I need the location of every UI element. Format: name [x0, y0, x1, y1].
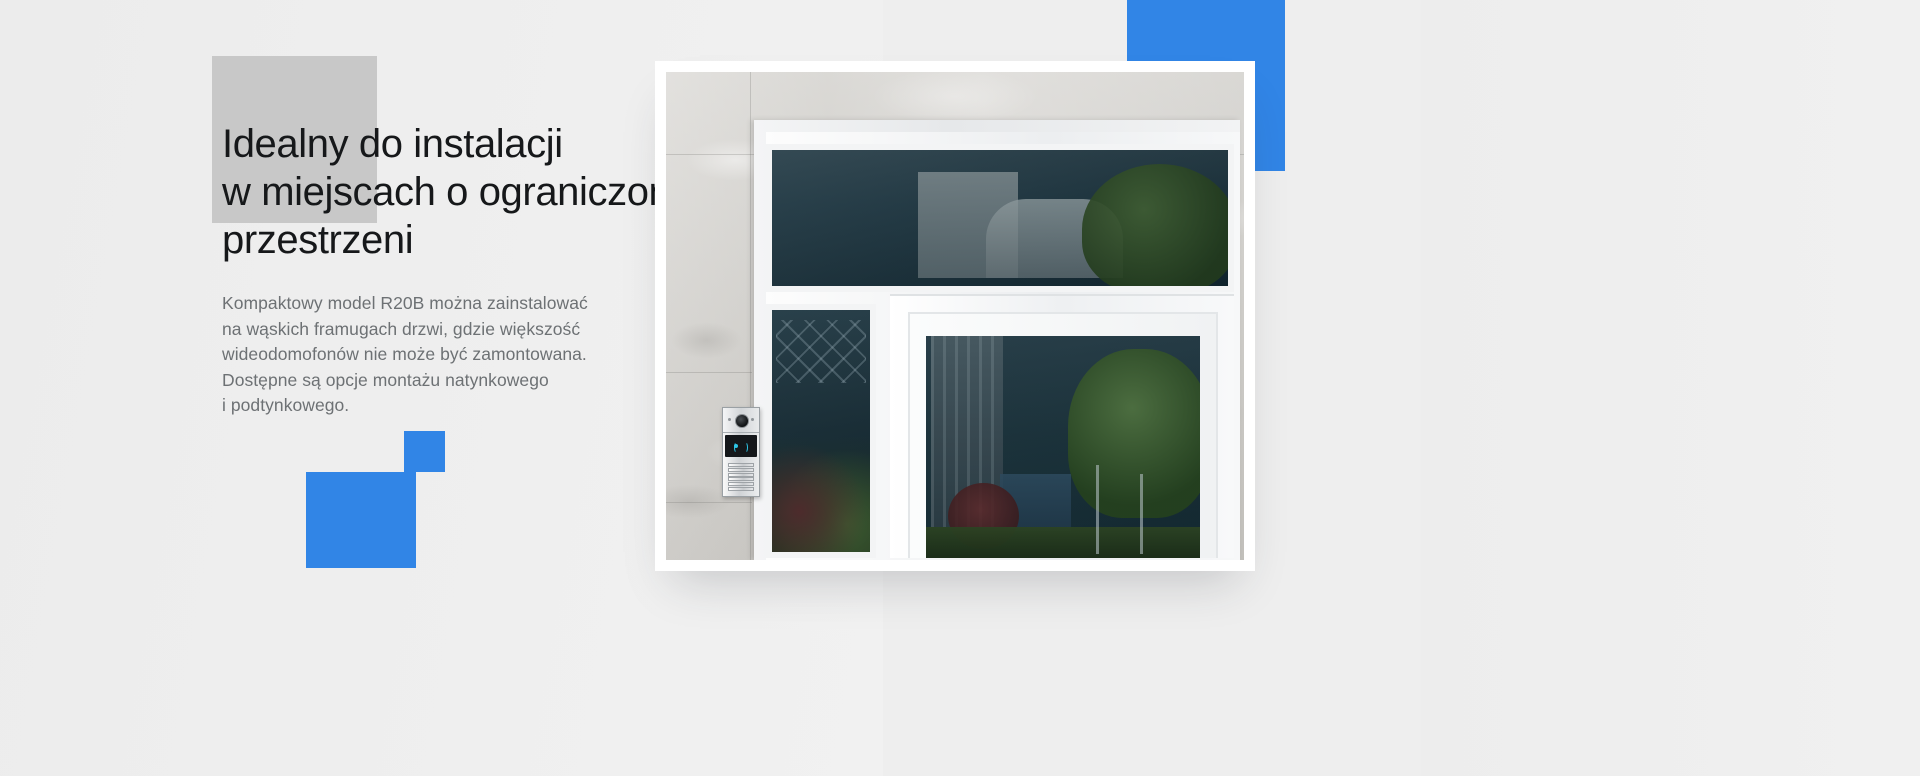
call-button: [728, 477, 754, 481]
call-button: [728, 468, 754, 472]
side-window: [766, 304, 876, 558]
reflection-hedge: [926, 527, 1200, 558]
transom-window: [766, 144, 1234, 292]
paragraph-line-2: na wąskich framugach drzwi, gdzie większ…: [222, 317, 692, 343]
ir-led-right-icon: [751, 418, 754, 421]
wall-seam: [666, 502, 752, 503]
product-photo: Szklane drzwi wejściowe z kamiennym obra…: [666, 72, 1244, 560]
door-glass-panel: [926, 336, 1200, 558]
camera-lens-icon: [735, 414, 749, 428]
background-gradient-right: [1421, 0, 1920, 776]
product-photo-card: Szklane drzwi wejściowe z kamiennym obra…: [655, 61, 1255, 571]
call-button: [728, 487, 754, 491]
paragraph-line-4: Dostępne są opcje montażu natynkowego: [222, 368, 692, 394]
text-column: Idealny do instalacji w miejscach o ogra…: [222, 120, 692, 419]
reflection-pole: [1140, 474, 1143, 554]
body-paragraph: Kompaktowy model R20B można zainstalować…: [222, 291, 692, 419]
headline-line-1: Idealny do instalacji: [222, 120, 692, 168]
call-button: [728, 482, 754, 486]
ir-led-left-icon: [728, 418, 731, 421]
promo-banner: Idealny do instalacji w miejscach o ogra…: [0, 0, 1920, 776]
reflection-lattice: [776, 320, 866, 383]
rfid-wave-right: [743, 442, 748, 453]
headline-line-3: przestrzeni: [222, 216, 692, 264]
reflection-foliage: [766, 436, 876, 558]
blue-accent-square-small: [404, 431, 445, 472]
call-button: [728, 473, 754, 477]
call-button-strip: [726, 461, 756, 493]
wall-seam: [666, 372, 752, 373]
rfid-dot: [734, 444, 738, 448]
reflection-pole: [1096, 465, 1099, 554]
call-button: [728, 463, 754, 467]
paragraph-line-5: i podtynkowego.: [222, 393, 692, 419]
paragraph-line-1: Kompaktowy model R20B można zainstalować: [222, 291, 692, 317]
page-title: Idealny do instalacji w miejscach o ogra…: [222, 120, 692, 264]
rfid-wave-icon: [734, 441, 748, 452]
glass-door: [890, 294, 1234, 558]
reflection-large-tree: [1068, 349, 1200, 518]
r20b-intercom-device: R20B: [722, 407, 760, 497]
headline-line-2: w miejscach o ograniczonej: [222, 168, 692, 216]
rfid-reader-panel: [725, 435, 757, 457]
blue-accent-square-large: [306, 472, 416, 568]
reflection-tree: [1082, 164, 1234, 292]
paragraph-line-3: wideodomofonów nie może być zamontowana.: [222, 342, 692, 368]
camera-module: [723, 408, 759, 433]
